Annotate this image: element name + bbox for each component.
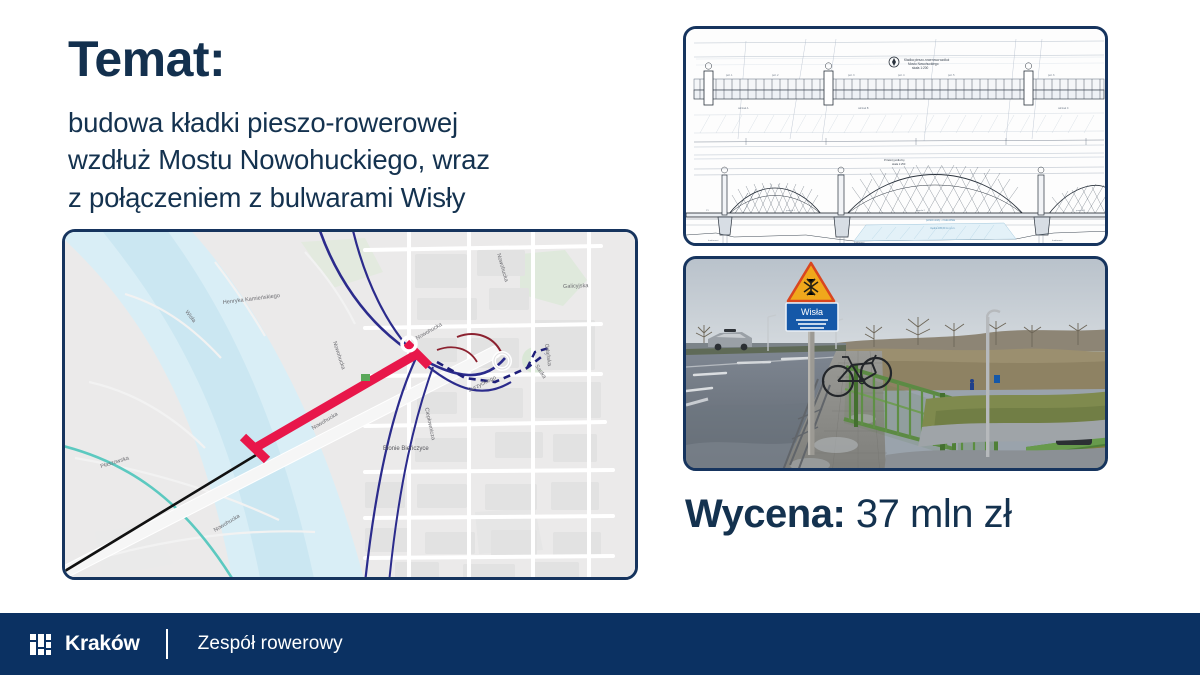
map-svg: Nowohucka Nowohucka Nowohucka Nowohucka … <box>65 232 638 580</box>
svg-text:przęsło 1: przęsło 1 <box>786 209 796 212</box>
svg-text:przęsło 2: przęsło 2 <box>916 209 926 212</box>
svg-text:poz. 4: poz. 4 <box>898 74 905 77</box>
person-far <box>970 379 974 390</box>
svg-text:poz. 3: poz. 3 <box>848 74 855 77</box>
krakow-logo-icon <box>30 634 51 655</box>
svg-text:poz. 1: poz. 1 <box>726 74 733 77</box>
page-title: Temat: <box>68 34 225 85</box>
map-canvas[interactable]: Nowohucka Nowohucka Nowohucka Nowohucka … <box>65 232 635 577</box>
brand-label: Kraków <box>65 632 140 656</box>
technical-drawing-svg: Kładka pieszo-rowerowa wzdłuż Mostu Nowo… <box>686 29 1108 246</box>
svg-text:poz. 5: poz. 5 <box>948 74 955 77</box>
price-value: 37 mln zł <box>856 492 1012 536</box>
team-label: Zespół rowerowy <box>198 633 343 655</box>
svg-text:przęsło 3: przęsło 3 <box>1076 209 1086 212</box>
svg-text:fundament: fundament <box>854 241 865 244</box>
svg-text:poz. 6: poz. 6 <box>1048 74 1055 77</box>
svg-text:skala 1:200: skala 1:200 <box>912 66 929 70</box>
river-sign-label: Wisła <box>801 307 823 317</box>
svg-text:odcinek C: odcinek C <box>1058 107 1069 110</box>
subtitle-line-3: z połączeniem z bulwarami Wisły <box>68 179 598 216</box>
svg-text:odcinek B: odcinek B <box>858 107 869 110</box>
svg-text:skala 1:250: skala 1:250 <box>892 162 906 166</box>
footer-bar: Kraków Zespół rowerowy <box>0 613 1200 675</box>
footer-content: Kraków Zespół rowerowy <box>30 613 343 675</box>
map-label-blonie: Błonie Bieńczyce <box>383 446 429 452</box>
price-line: Wycena: 37 mln zł <box>685 492 1011 537</box>
slide-root: Temat: budowa kładki pieszo-rowerowej wz… <box>0 0 1200 675</box>
subtitle-line-2: wzdłuż Mostu Nowohuckiego, wraz <box>68 141 598 178</box>
technical-drawing-panel[interactable]: Kładka pieszo-rowerowa wzdłuż Mostu Nowo… <box>683 26 1108 246</box>
subtitle-line-1: budowa kładki pieszo-rowerowej <box>68 104 598 141</box>
svg-text:poziom wody – rzeka Wisła: poziom wody – rzeka Wisła <box>926 219 956 222</box>
svg-text:rzędna 195,60 m n.p.m.: rzędna 195,60 m n.p.m. <box>930 227 956 230</box>
site-photo-svg: Wisła <box>686 259 1108 471</box>
svg-text:fundament: fundament <box>1052 239 1063 242</box>
left-column: Temat: budowa kładki pieszo-rowerowej wz… <box>0 0 660 600</box>
svg-text:fundament: fundament <box>708 239 719 242</box>
map-panel[interactable]: Nowohucka Nowohucka Nowohucka Nowohucka … <box>62 229 638 580</box>
page-subtitle: budowa kładki pieszo-rowerowej wzdłuż Mo… <box>68 104 598 216</box>
map-label-galicyjska: Galicyjska <box>563 283 590 290</box>
footer-divider <box>166 629 168 659</box>
svg-text:poz. 2: poz. 2 <box>772 74 779 77</box>
svg-text:Przekrój podłużny: Przekrój podłużny <box>884 158 905 162</box>
svg-text:odcinek A: odcinek A <box>738 107 749 110</box>
price-label: Wycena: <box>685 492 845 536</box>
site-photo-panel[interactable]: Wisła <box>683 256 1108 471</box>
